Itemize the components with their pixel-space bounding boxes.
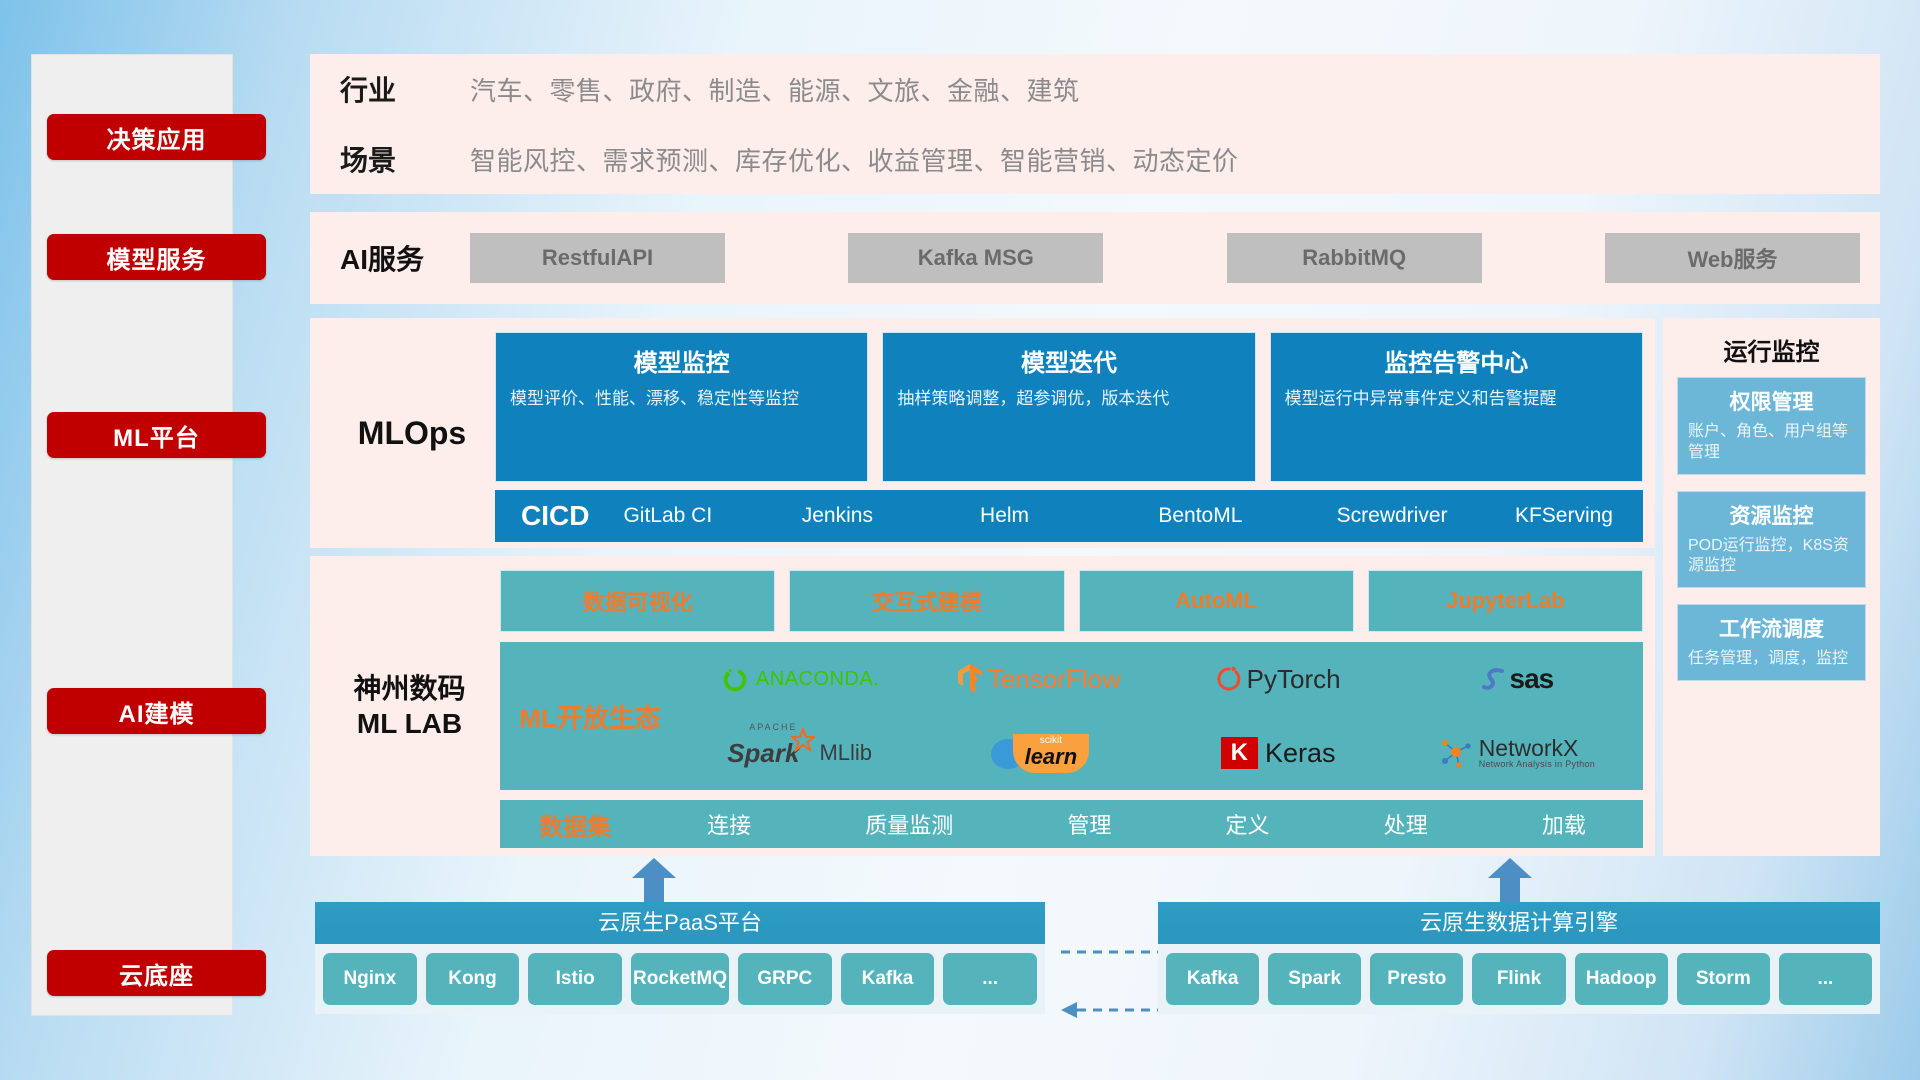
mlops-card-model-monitoring[interactable]: 模型监控 模型评价、性能、漂移、稳定性等监控 (495, 332, 868, 482)
spark-wordmark: Spark (727, 738, 799, 768)
ai-modeling-band: 神州数码 ML LAB 数据可视化 交互式建模 AutoML JupyterLa… (310, 556, 1655, 856)
paas-title: 云原生PaaS平台 (315, 902, 1045, 944)
dataset-item-manage[interactable]: 管理 (1067, 808, 1111, 840)
keras-logo: K Keras (1221, 737, 1336, 769)
card-title: 资源监控 (1688, 500, 1855, 530)
tool-box-label: AutoML (1175, 588, 1257, 614)
tool-box-jupyterlab[interactable]: JupyterLab (1368, 570, 1643, 632)
sas-swirl-icon (1482, 664, 1508, 694)
engine-chip-more[interactable]: ... (1779, 953, 1872, 1005)
service-box-rabbitmq[interactable]: RabbitMQ (1227, 233, 1482, 283)
monitor-card-resource[interactable]: 资源监控 POD运行监控，K8S资源监控 (1677, 491, 1866, 589)
pytorch-logo: PyTorch (1216, 664, 1341, 695)
industry-row: 行业 汽车、零售、政府、制造、能源、文旅、金融、建筑 (310, 54, 1880, 124)
cicd-item-jenkins[interactable]: Jenkins (802, 504, 912, 527)
engine-chip-spark[interactable]: Spark (1268, 953, 1361, 1005)
dataset-item-process[interactable]: 处理 (1384, 808, 1428, 840)
layer-chip-ml-platform[interactable]: ML平台 (47, 412, 266, 458)
service-box-label: Kafka MSG (918, 245, 1034, 271)
tool-box-data-visualization[interactable]: 数据可视化 (500, 570, 775, 632)
paas-chip-more[interactable]: ... (943, 953, 1037, 1005)
spark-mllib-logo: APACHE Spark MLlib (727, 738, 872, 769)
data-engine-title: 云原生数据计算引擎 (1158, 902, 1880, 944)
paas-chip-list: Nginx Kong Istio RocketMQ GRPC Kafka ... (315, 944, 1045, 1014)
spark-star-icon (791, 728, 815, 752)
layer-rail-panel (31, 54, 233, 1016)
card-desc: POD运行监控，K8S资源监控 (1688, 536, 1855, 578)
layer-chip-label: 决策应用 (107, 120, 207, 155)
anaconda-logo: ANACONDA. (720, 664, 879, 694)
cicd-item-screwdriver[interactable]: Screwdriver (1337, 504, 1447, 527)
card-title: 模型监控 (510, 343, 853, 378)
service-box-web-service[interactable]: Web服务 (1605, 233, 1860, 283)
scikit-learn-logo: scikit learn (989, 734, 1090, 773)
card-title: 权限管理 (1688, 386, 1855, 416)
monitor-card-workflow[interactable]: 工作流调度 任务管理，调度，监控 (1677, 604, 1866, 681)
architecture-diagram: 决策应用 模型服务 ML平台 AI建模 云底座 行业 汽车、零售、政府、制造、能… (0, 0, 1920, 1080)
anaconda-wordmark: ANACONDA. (756, 668, 879, 691)
layer-chip-ai-modeling[interactable]: AI建模 (47, 688, 266, 734)
dataset-item-list: 连接 质量监测 管理 定义 处理 加载 (650, 808, 1643, 840)
mlops-card-list: 模型监控 模型评价、性能、漂移、稳定性等监控 模型迭代 抽样策略调整，超参调优，… (495, 332, 1643, 482)
arrow-up-data-engine-icon (1486, 858, 1534, 902)
layer-chip-model-service[interactable]: 模型服务 (47, 234, 266, 280)
service-box-label: Web服务 (1687, 242, 1777, 274)
dataset-item-define[interactable]: 定义 (1226, 808, 1270, 840)
ai-service-label: AI服务 (340, 238, 470, 278)
spark-apache-text: APACHE (749, 722, 797, 732)
cicd-row: CICD GitLab CI Jenkins Helm BentoML Scre… (495, 490, 1643, 542)
decision-application-band: 行业 汽车、零售、政府、制造、能源、文旅、金融、建筑 场景 智能风控、需求预测、… (310, 54, 1880, 194)
ml-lab-label-line2: ML LAB (357, 706, 462, 741)
keras-mark-icon: K (1221, 737, 1258, 769)
sas-wordmark: sas (1510, 663, 1554, 695)
pytorch-wordmark: PyTorch (1247, 664, 1341, 695)
modeling-tool-list: 数据可视化 交互式建模 AutoML JupyterLab (500, 570, 1643, 632)
card-desc: 任务管理，调度，监控 (1688, 649, 1855, 670)
ml-lab-label: 神州数码 ML LAB (322, 556, 497, 856)
layer-chip-decision-app[interactable]: 决策应用 (47, 114, 266, 160)
networkx-logo: NetworkX Network Analysis in Python (1440, 737, 1595, 769)
sas-logo: sas (1482, 663, 1554, 695)
networkx-wordmark: NetworkX (1479, 737, 1595, 760)
mlops-label: MLOps (332, 318, 492, 548)
mlops-band: MLOps 模型监控 模型评价、性能、漂移、稳定性等监控 模型迭代 抽样策略调整… (310, 318, 1655, 548)
layer-chip-label: 云底座 (119, 956, 194, 991)
card-title: 监控告警中心 (1285, 343, 1628, 378)
ecosystem-logo-grid: ANACONDA. TensorFlow (680, 642, 1643, 790)
tensorflow-mark-icon (957, 663, 983, 695)
runtime-monitoring-title: 运行监控 (1663, 318, 1880, 377)
layer-chip-label: 模型服务 (107, 240, 207, 275)
dataset-item-load[interactable]: 加载 (1542, 808, 1586, 840)
engine-chip-hadoop[interactable]: Hadoop (1575, 953, 1668, 1005)
cicd-item-bentoml[interactable]: BentoML (1158, 504, 1268, 527)
service-box-label: RabbitMQ (1302, 245, 1406, 271)
networkx-tagline: Network Analysis in Python (1479, 760, 1595, 769)
scikit-learn-badge: scikit learn (1013, 734, 1090, 773)
pytorch-flame-icon (1216, 664, 1242, 694)
runtime-monitoring-band: 运行监控 权限管理 账户、角色、用户组等管理 资源监控 POD运行监控，K8S资… (1663, 318, 1880, 856)
monitor-card-permission[interactable]: 权限管理 账户、角色、用户组等管理 (1677, 377, 1866, 475)
ai-service-list: RestfulAPI Kafka MSG RabbitMQ Web服务 (470, 233, 1880, 283)
scenario-values: 智能风控、需求预测、库存优化、收益管理、智能营销、动态定价 (470, 141, 1239, 178)
learn-text: learn (1025, 746, 1078, 768)
engine-chip-kafka[interactable]: Kafka (1166, 953, 1259, 1005)
keras-wordmark: Keras (1265, 738, 1336, 769)
service-box-restfulapi[interactable]: RestfulAPI (470, 233, 725, 283)
mlops-card-alert-center[interactable]: 监控告警中心 模型运行中异常事件定义和告警提醒 (1270, 332, 1643, 482)
dataset-label: 数据集 (500, 807, 650, 842)
tool-box-label: 交互式建模 (872, 585, 982, 617)
paas-chip-grpc[interactable]: GRPC (738, 953, 832, 1005)
layer-chip-label: ML平台 (113, 418, 200, 453)
engine-chip-storm[interactable]: Storm (1677, 953, 1770, 1005)
ai-service-band: AI服务 RestfulAPI Kafka MSG RabbitMQ Web服务 (310, 212, 1880, 304)
cloud-native-paas-group: 云原生PaaS平台 Nginx Kong Istio RocketMQ GRPC… (315, 902, 1045, 1014)
card-title: 工作流调度 (1688, 613, 1855, 643)
card-desc: 模型评价、性能、漂移、稳定性等监控 (510, 388, 853, 411)
scenario-label: 场景 (340, 139, 470, 179)
card-desc: 模型运行中异常事件定义和告警提醒 (1285, 388, 1628, 411)
arrow-up-paas-icon (630, 858, 678, 902)
ml-lab-label-line1: 神州数码 (353, 671, 465, 706)
tool-box-label: JupyterLab (1446, 588, 1565, 614)
networkx-graph-icon (1440, 737, 1474, 769)
industry-label: 行业 (340, 69, 470, 109)
data-engine-chip-list: Kafka Spark Presto Flink Hadoop Storm ..… (1158, 944, 1880, 1014)
engine-chip-presto[interactable]: Presto (1370, 953, 1463, 1005)
cicd-item-kfserving[interactable]: KFServing (1515, 504, 1625, 527)
service-box-label: RestfulAPI (542, 245, 653, 271)
dataset-item-quality[interactable]: 质量监测 (865, 808, 953, 840)
ml-open-ecosystem-row: ML开放生态 ANACONDA. (500, 642, 1643, 790)
dataset-item-connect[interactable]: 连接 (707, 808, 751, 840)
cicd-item-helm[interactable]: Helm (980, 504, 1090, 527)
industry-values: 汽车、零售、政府、制造、能源、文旅、金融、建筑 (470, 71, 1080, 108)
mlops-card-model-iteration[interactable]: 模型迭代 抽样策略调整，超参调优，版本迭代 (882, 332, 1255, 482)
card-desc: 账户、角色、用户组等管理 (1688, 422, 1855, 464)
layer-chip-label: AI建模 (119, 694, 195, 729)
dataset-row: 数据集 连接 质量监测 管理 定义 处理 加载 (500, 800, 1643, 848)
tool-box-label: 数据可视化 (583, 585, 693, 617)
paas-chip-nginx[interactable]: Nginx (323, 953, 417, 1005)
anaconda-ring-icon (720, 664, 750, 694)
cicd-item-gitlab-ci[interactable]: GitLab CI (623, 504, 733, 527)
ml-open-ecosystem-label: ML开放生态 (500, 698, 680, 735)
tool-box-automl[interactable]: AutoML (1079, 570, 1354, 632)
cicd-item-list: GitLab CI Jenkins Helm BentoML Screwdriv… (623, 504, 1643, 527)
cicd-label: CICD (521, 500, 589, 532)
tool-box-interactive-modeling[interactable]: 交互式建模 (789, 570, 1064, 632)
tensorflow-wordmark: TensorFlow (988, 664, 1121, 695)
paas-chip-kong[interactable]: Kong (426, 953, 520, 1005)
layer-chip-cloud-base[interactable]: 云底座 (47, 950, 266, 996)
cloud-native-data-engine-group: 云原生数据计算引擎 Kafka Spark Presto Flink Hadoo… (1158, 902, 1880, 1014)
mllib-wordmark: MLlib (819, 740, 872, 766)
paas-chip-kafka[interactable]: Kafka (841, 953, 935, 1005)
card-title: 模型迭代 (897, 343, 1240, 378)
card-desc: 抽样策略调整，超参调优，版本迭代 (897, 388, 1240, 411)
paas-chip-rocketmq[interactable]: RocketMQ (631, 953, 729, 1005)
tensorflow-logo: TensorFlow (957, 663, 1121, 695)
engine-chip-flink[interactable]: Flink (1472, 953, 1565, 1005)
paas-chip-istio[interactable]: Istio (528, 953, 622, 1005)
scenario-row: 场景 智能风控、需求预测、库存优化、收益管理、智能营销、动态定价 (310, 124, 1880, 194)
service-box-kafka-msg[interactable]: Kafka MSG (848, 233, 1103, 283)
